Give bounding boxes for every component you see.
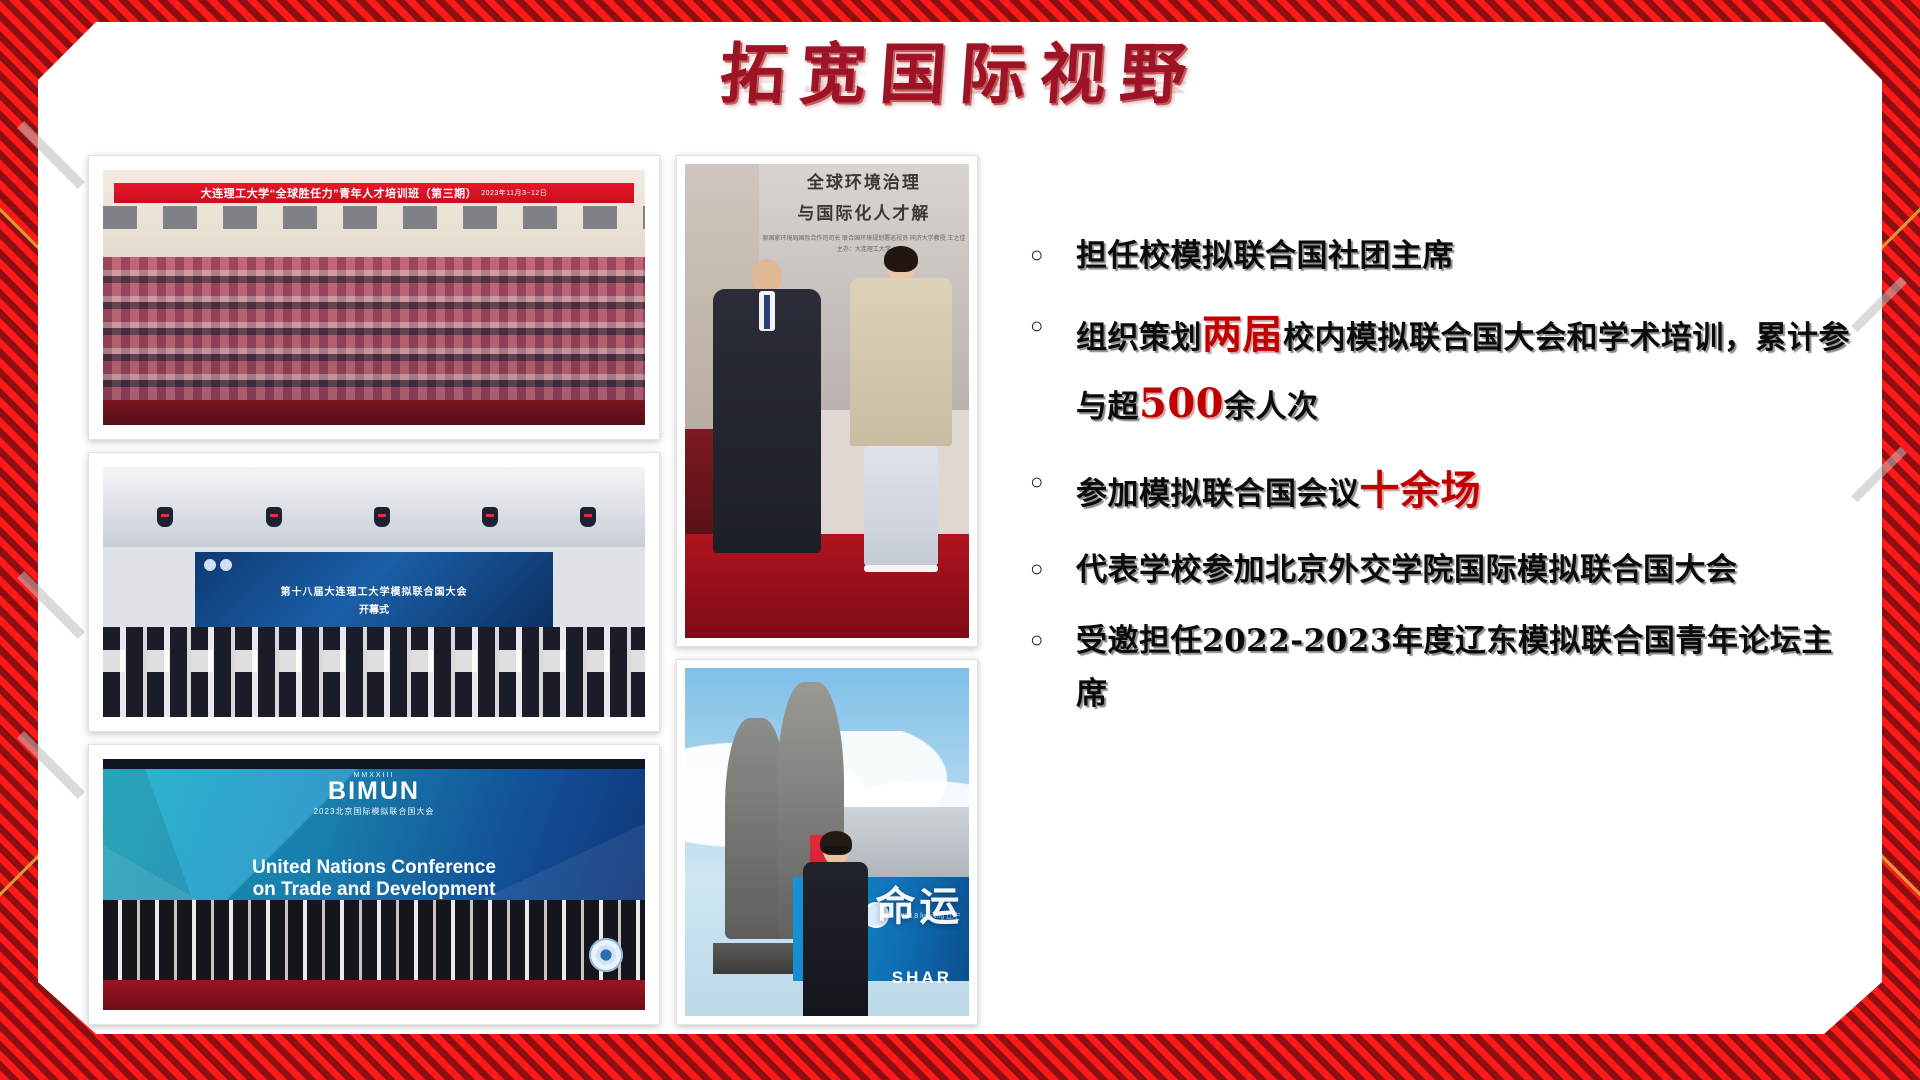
bullet-segment: 担任校模拟联合国社团主席 bbox=[1076, 238, 1454, 274]
slide-root: 拓宽国际视野 拓宽国际视野 大连理工大学“全球胜任力”青年人才培训班（第三期） … bbox=[0, 0, 1920, 1080]
photo5-banner-share-text: SHAR bbox=[892, 968, 952, 988]
page-title: 拓宽国际视野 bbox=[718, 40, 1203, 109]
photo2-screen-line1: 第十八届大连理工大学模拟联合国大会 bbox=[281, 583, 468, 598]
slide-title-block: 拓宽国际视野 拓宽国际视野 bbox=[0, 40, 1920, 199]
bullet-segment: 参加模拟联合国会议 bbox=[1076, 476, 1360, 512]
photo4-screen-line2: 与国际化人才解 bbox=[759, 199, 969, 224]
bullet-marker-icon: ○ bbox=[1030, 457, 1076, 493]
photo5-banner-big-text: 命运 bbox=[875, 874, 963, 932]
bullet-item-1: ○担任校模拟联合国社团主席 bbox=[1030, 230, 1850, 283]
bullet-text: 代表学校参加北京外交学院国际模拟联合国大会 bbox=[1076, 544, 1850, 597]
photo-with-professor: 全球环境治理 与国际化人才解 原国家环境局国际合作司司长 联合国环境规划署巡视员… bbox=[676, 155, 978, 647]
bimun-logo-roman: MMXXIII bbox=[103, 772, 645, 779]
bullet-marker-icon: ○ bbox=[1030, 615, 1076, 651]
bullet-marker-icon: ○ bbox=[1030, 301, 1076, 337]
bullet-item-3: ○参加模拟联合国会议十余场 bbox=[1030, 457, 1850, 526]
photo-mun-opening-ceremony: 第十八届大连理工大学模拟联合国大会 开幕式 bbox=[88, 452, 660, 732]
red-carpet bbox=[103, 980, 645, 1010]
photo-monument-visit: 2023.8 liaoning 辽宁 命运 SHAR bbox=[676, 659, 978, 1025]
bullet-marker-icon: ○ bbox=[1030, 230, 1076, 266]
bimun-logo-chinese: 2023北京国际模拟联合国大会 bbox=[103, 806, 645, 817]
stage-front bbox=[103, 400, 645, 426]
delegates-rows bbox=[103, 900, 645, 980]
bullet-highlight: 十余场 bbox=[1360, 467, 1482, 514]
bimun-logo: MMXXIII BIMUN 2023北京国际模拟联合国大会 bbox=[103, 772, 645, 817]
photo-gallery: 大连理工大学“全球胜任力”青年人才培训班（第三期） 2023年11月3~12日 bbox=[88, 155, 988, 1025]
bimun-logo-name: BIMUN bbox=[103, 779, 645, 804]
bullet-item-2: ○组织策划两届校内模拟联合国大会和学术培训，累计参与超500余人次 bbox=[1030, 301, 1850, 439]
unctad-headline-line2: on Trade and Development bbox=[103, 879, 645, 901]
bullet-segment: 余人次 bbox=[1224, 389, 1319, 425]
bullet-text: 担任校模拟联合国社团主席 bbox=[1076, 230, 1850, 283]
bullet-highlight: 两届 bbox=[1202, 311, 1283, 358]
unctad-headline: United Nations Conference on Trade and D… bbox=[103, 857, 645, 901]
photo-bimun-conference: MMXXIII BIMUN 2023北京国际模拟联合国大会 United Nat… bbox=[88, 744, 660, 1025]
bullet-text: 参加模拟联合国会议十余场 bbox=[1076, 457, 1850, 526]
bullet-marker-icon: ○ bbox=[1030, 544, 1076, 580]
bullet-segment: 组织策划 bbox=[1076, 320, 1202, 356]
sunglasses-icon bbox=[824, 846, 848, 853]
person-student bbox=[850, 249, 952, 571]
achievement-bullet-list: ○担任校模拟联合国社团主席○组织策划两届校内模拟联合国大会和学术培训，累计参与超… bbox=[1030, 230, 1850, 740]
audience-crowd bbox=[103, 257, 645, 400]
bullet-text: 组织策划两届校内模拟联合国大会和学术培训，累计参与超500余人次 bbox=[1076, 301, 1850, 439]
bullet-segment: 受邀担任2022-2023年度辽东模拟联合国青年论坛主席 bbox=[1076, 623, 1833, 712]
bullet-text: 受邀担任2022-2023年度辽东模拟联合国青年论坛主席 bbox=[1076, 615, 1850, 722]
stage-lights bbox=[103, 507, 645, 537]
unctad-headline-line1: United Nations Conference bbox=[103, 857, 645, 879]
delegates-group bbox=[103, 627, 645, 717]
bullet-highlight: 500 bbox=[1139, 380, 1224, 427]
bullet-segment: 代表学校参加北京外交学院国际模拟联合国大会 bbox=[1076, 552, 1738, 588]
photo2-screen-line2: 开幕式 bbox=[359, 601, 389, 616]
person-professor bbox=[713, 259, 821, 553]
person-visitor bbox=[799, 835, 873, 1016]
bullet-item-4: ○代表学校参加北京外交学院国际模拟联合国大会 bbox=[1030, 544, 1850, 597]
bullet-item-5: ○受邀担任2022-2023年度辽东模拟联合国青年论坛主席 bbox=[1030, 615, 1850, 722]
